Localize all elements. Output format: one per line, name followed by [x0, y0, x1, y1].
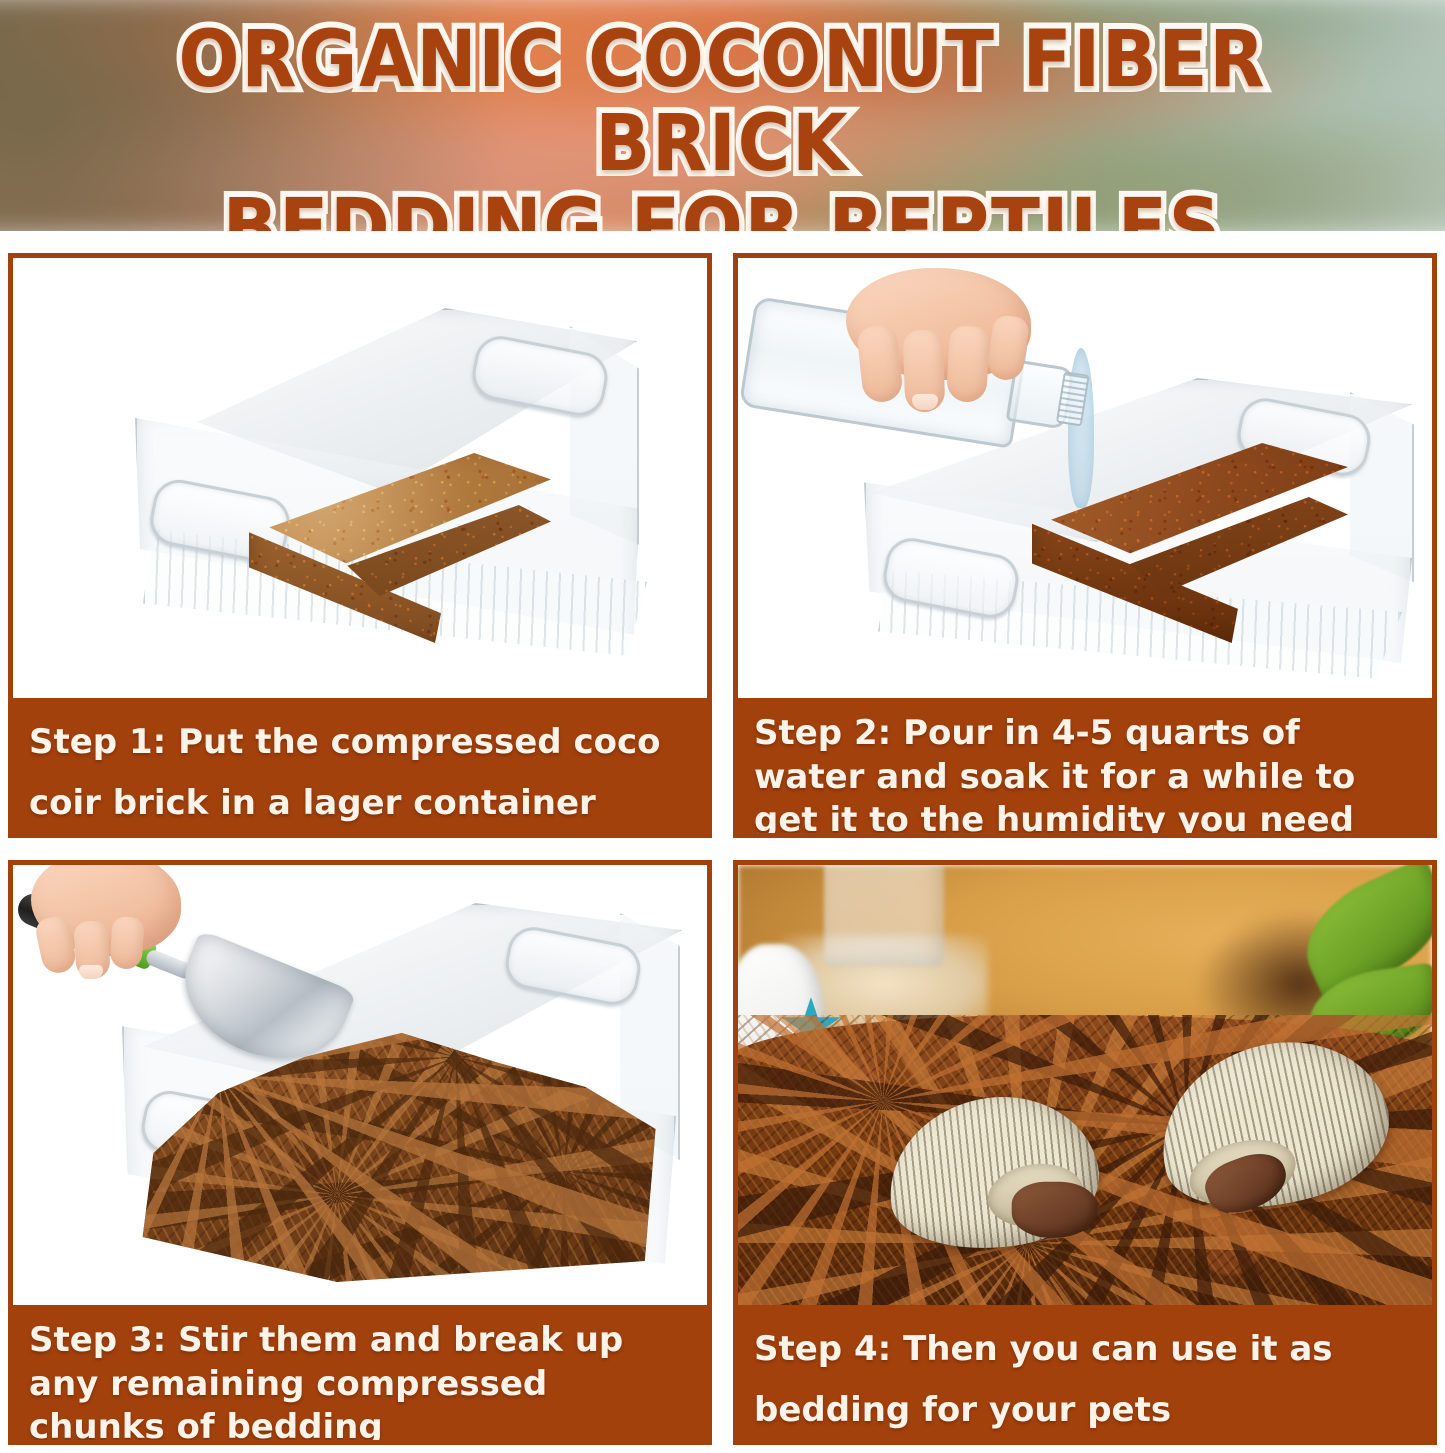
fingernail: [79, 965, 103, 979]
step-2-image: [738, 258, 1432, 698]
clear-tube-decor: [824, 865, 944, 967]
step-card-3: Step 3: Stir them and break up any remai…: [8, 860, 712, 1445]
coco-coir-brick: [1018, 443, 1348, 643]
step-4-caption: Step 4: Then you can use it as bedding f…: [738, 1305, 1432, 1445]
finger-1: [856, 324, 904, 404]
step-3-caption: Step 3: Stir them and break up any remai…: [13, 1305, 707, 1445]
header-banner: ORGANIC COCONUT FIBER BRICK BEDDING FOR …: [0, 0, 1445, 231]
page-title: ORGANIC COCONUT FIBER BRICK BEDDING FOR …: [0, 18, 1445, 231]
crab-claw: [1012, 1182, 1098, 1238]
terrarium-scene: [738, 865, 1432, 1305]
steps-grid: Step 1: Put the compressed coco coir bri…: [8, 253, 1437, 1445]
hermit-crab-left: [879, 1084, 1108, 1262]
step-card-2: Step 2: Pour in 4-5 quarts of water and …: [733, 253, 1437, 838]
title-line-2: BEDDING FOR REPTILES: [58, 186, 1387, 231]
finger-3: [946, 325, 990, 403]
step-4-image: [738, 865, 1432, 1305]
step-2-caption: Step 2: Pour in 4-5 quarts of water and …: [738, 698, 1432, 838]
step-card-4: Step 4: Then you can use it as bedding f…: [733, 860, 1437, 1445]
hand: [21, 865, 201, 995]
step-3-image: [13, 865, 707, 1305]
fingernail: [912, 394, 938, 410]
step-1-caption: Step 1: Put the compressed coco coir bri…: [13, 698, 707, 838]
step-1-image: [13, 258, 707, 698]
coco-coir-brick: [231, 453, 551, 643]
finger-3: [109, 916, 145, 970]
title-line-1: ORGANIC COCONUT FIBER BRICK: [58, 18, 1387, 186]
step-card-1: Step 1: Put the compressed coco coir bri…: [8, 253, 712, 838]
hand: [816, 268, 1056, 418]
